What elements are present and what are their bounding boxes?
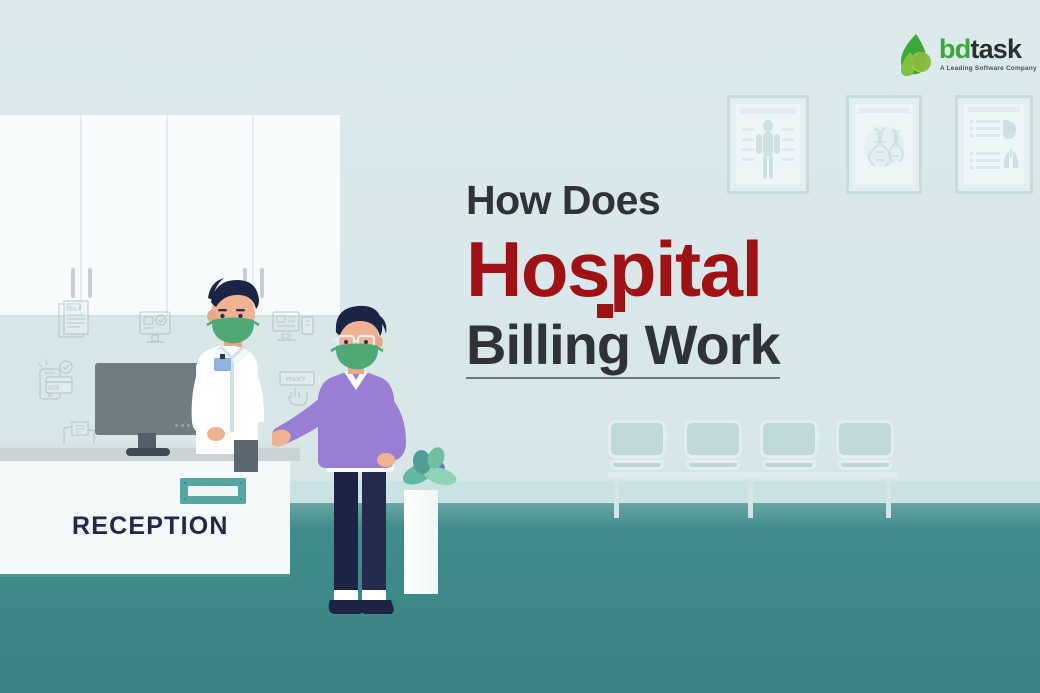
chart-poster-inner [964, 104, 1024, 185]
bill-document-icon: BILL $ [58, 300, 92, 342]
reception-label: RECEPTION [72, 512, 229, 541]
headline-line-1: How Does [466, 180, 946, 221]
logo-bd-text: bd [939, 34, 970, 64]
chair-leg [748, 478, 753, 518]
reception-desk-base [0, 574, 292, 583]
card-payment-mobile-icon [30, 355, 84, 403]
chair-rail [608, 472, 898, 479]
monitor-foot [126, 448, 170, 456]
chair-leg [886, 478, 891, 518]
chair-back [836, 420, 894, 458]
reception-desk-sign [180, 478, 246, 504]
waiting-chair[interactable] [836, 420, 896, 458]
cabinet-door [0, 115, 82, 315]
chair-seat [762, 460, 816, 470]
chair-back [760, 420, 818, 458]
logo-wordmark: bdtask [939, 36, 1021, 63]
bdtask-leaf-icon [897, 32, 937, 76]
human-body-icon [736, 104, 800, 185]
hero-banner: BILL $ [0, 0, 1040, 693]
headline-line-3: Billing Work [466, 316, 780, 375]
cabinet-door [82, 115, 168, 315]
chair-seat [838, 460, 892, 470]
chair-back [684, 420, 742, 458]
dna-helix-icon [855, 104, 913, 185]
reception-desk-sign-inner [188, 486, 238, 496]
headline-block: How Does Hospital Billing Work [466, 180, 946, 375]
svg-text:BILL $: BILL $ [69, 305, 82, 310]
cabinet-handle[interactable] [71, 268, 75, 298]
dna-poster-inner [855, 104, 913, 185]
waiting-chair[interactable] [684, 420, 744, 458]
waiting-chairs [608, 420, 898, 505]
monitor-check-icon [138, 310, 176, 350]
headline-underline [466, 377, 780, 379]
chair-back [608, 420, 666, 458]
logo-tagline: A Leading Software Company [940, 65, 1037, 72]
logo-task-text: task [970, 34, 1021, 64]
chair-seat [610, 460, 664, 470]
headline-line-2: Hospital [466, 229, 946, 310]
chair-leg [614, 478, 619, 518]
waiting-chair[interactable] [760, 420, 820, 458]
chair-seat [686, 460, 740, 470]
cabinet-handle[interactable] [88, 268, 92, 298]
chart-poster [955, 95, 1033, 194]
headline-accent-mark [597, 304, 613, 318]
organs-checklist-icon [964, 104, 1024, 185]
headline-line-3-wrap: Billing Work [466, 316, 780, 375]
bdtask-logo[interactable]: bdtask A Leading Software Company [897, 32, 1025, 80]
anatomy-poster-inner [736, 104, 800, 185]
waiting-chair[interactable] [608, 420, 668, 458]
patient-character [272, 300, 432, 630]
